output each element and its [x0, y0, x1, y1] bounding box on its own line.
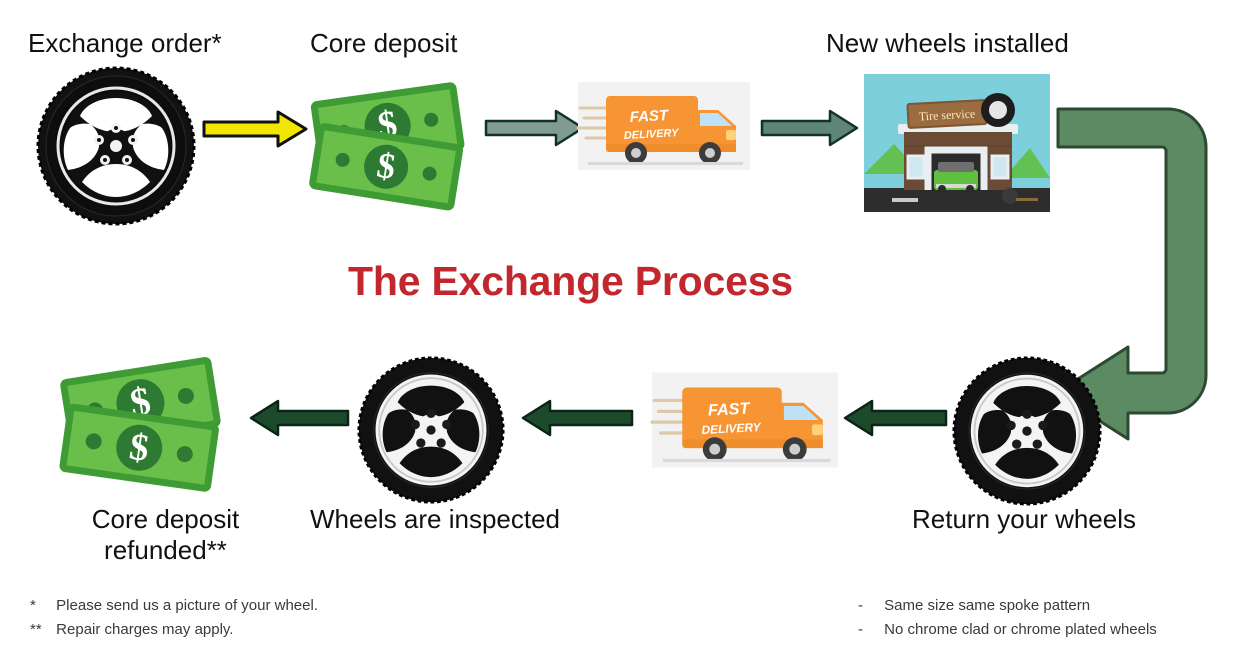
svg-text:FAST: FAST	[629, 107, 670, 126]
icon-tire-service-shop: Tire service	[864, 74, 1050, 212]
arrow-inspect-to-refund	[248, 400, 348, 436]
icon-black-alloy-wheel	[36, 66, 196, 226]
label-return-your-wheels: Return your wheels	[912, 504, 1136, 534]
arrow-van-to-shop	[762, 110, 858, 146]
svg-text:FAST: FAST	[707, 399, 751, 419]
label-core-deposit-refunded-line1: Core deposit	[58, 504, 273, 534]
icon-green-dollar-bills-top: $ $	[308, 76, 480, 206]
footnote-mark: -	[858, 594, 880, 618]
footnote-text: Repair charges may apply.	[56, 621, 233, 638]
footnote-mark: -	[858, 618, 880, 642]
footnote-right-1: - No chrome clad or chrome plated wheels	[858, 618, 1157, 642]
footnote-mark: **	[30, 618, 52, 642]
icon-silver-alloy-wheel-inspected	[357, 356, 505, 504]
footnote-text: No chrome clad or chrome plated wheels	[884, 621, 1157, 638]
label-new-wheels-installed: New wheels installed	[826, 28, 1069, 58]
arrow-return-to-van	[842, 400, 946, 436]
exchange-process-diagram: Exchange order* Core deposit New wheels …	[0, 0, 1250, 666]
footnotes-left: * Please send us a picture of your wheel…	[30, 594, 318, 642]
shop-sign-text: Tire service	[918, 107, 975, 124]
footnote-right-0: - Same size same spoke pattern	[858, 594, 1157, 618]
label-core-deposit: Core deposit	[310, 28, 457, 58]
footnote-text: Same size same spoke pattern	[884, 597, 1090, 614]
footnote-text: Please send us a picture of your wheel.	[56, 597, 318, 614]
footnote-mark: *	[30, 594, 52, 618]
label-exchange-order: Exchange order*	[28, 28, 222, 58]
label-core-deposit-refunded-line2: refunded**	[58, 535, 273, 565]
footnote-left-1: ** Repair charges may apply.	[30, 618, 318, 642]
icon-fast-delivery-van-back: FAST DELIVERY	[652, 372, 838, 468]
icon-silver-alloy-wheel-return	[952, 356, 1102, 506]
arrow-deposit-to-van	[486, 110, 584, 146]
footnotes-right: - Same size same spoke pattern - No chro…	[858, 594, 1157, 642]
icon-fast-delivery-van-out: FAST DELIVERY	[578, 82, 750, 170]
page-title: The Exchange Process	[348, 258, 793, 305]
arrow-order-to-deposit	[202, 110, 308, 148]
label-wheels-are-inspected: Wheels are inspected	[310, 504, 560, 534]
arrow-van-to-inspect	[520, 400, 632, 436]
footnote-left-0: * Please send us a picture of your wheel…	[30, 594, 318, 618]
icon-green-dollar-bills-bottom: $ $	[58, 352, 238, 488]
